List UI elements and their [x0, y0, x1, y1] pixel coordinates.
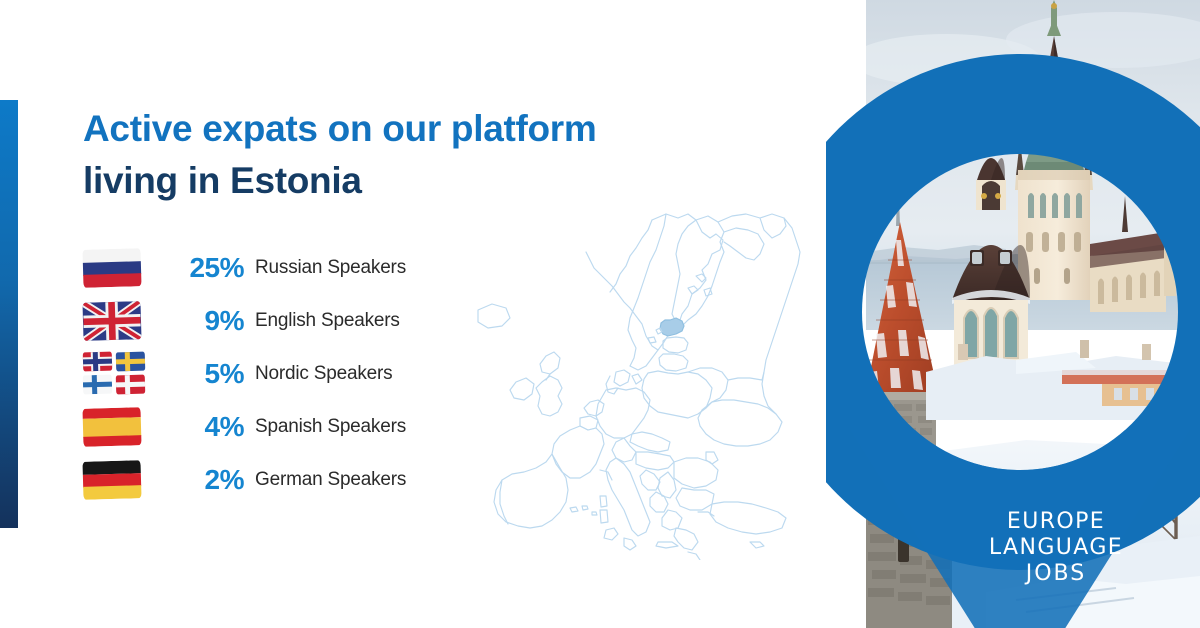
- flag-finland-icon: [83, 374, 113, 394]
- flag-norway-icon: [83, 351, 113, 371]
- stat-label: English Speakers: [255, 310, 400, 332]
- flag-germany-icon: [83, 457, 155, 503]
- stat-label: Russian Speakers: [255, 257, 406, 279]
- stat-row: 25% Russian Speakers: [83, 241, 503, 294]
- stat-row: 5% Nordic Speakers: [83, 347, 503, 400]
- left-accent-bar: [0, 100, 18, 528]
- stat-row: 9% English Speakers: [83, 294, 503, 347]
- stat-percent: 25%: [155, 252, 255, 284]
- stat-percent: 4%: [155, 411, 255, 443]
- stat-label: German Speakers: [255, 469, 406, 491]
- stat-label: Nordic Speakers: [255, 363, 392, 385]
- flag-russia-icon: [83, 245, 155, 291]
- logo-line-2: LANGUAGE: [976, 535, 1136, 561]
- stats-list: 25% Russian Speakers 9% English Speakers: [83, 241, 503, 506]
- stat-label: Spanish Speakers: [255, 416, 406, 438]
- stat-row: 2% German Speakers: [83, 453, 503, 506]
- flag-nordic-icon: [83, 351, 155, 397]
- logo-line-1: EUROPE: [976, 509, 1136, 535]
- stat-percent: 2%: [155, 464, 255, 496]
- logo-line-3: JOBS: [976, 561, 1136, 587]
- flag-uk-icon: [83, 298, 155, 344]
- flag-spain-icon: [83, 404, 155, 450]
- infographic-canvas: Active expats on our platform living in …: [0, 0, 1200, 628]
- flag-sweden-icon: [116, 351, 146, 371]
- stat-percent: 9%: [155, 305, 255, 337]
- brand-logo: EUROPE LANGUAGE JOBS: [976, 509, 1136, 587]
- stat-row: 4% Spanish Speakers: [83, 400, 503, 453]
- stat-percent: 5%: [155, 358, 255, 390]
- flag-denmark-icon: [116, 374, 146, 394]
- page-title-line-1: Active expats on our platform: [83, 103, 783, 155]
